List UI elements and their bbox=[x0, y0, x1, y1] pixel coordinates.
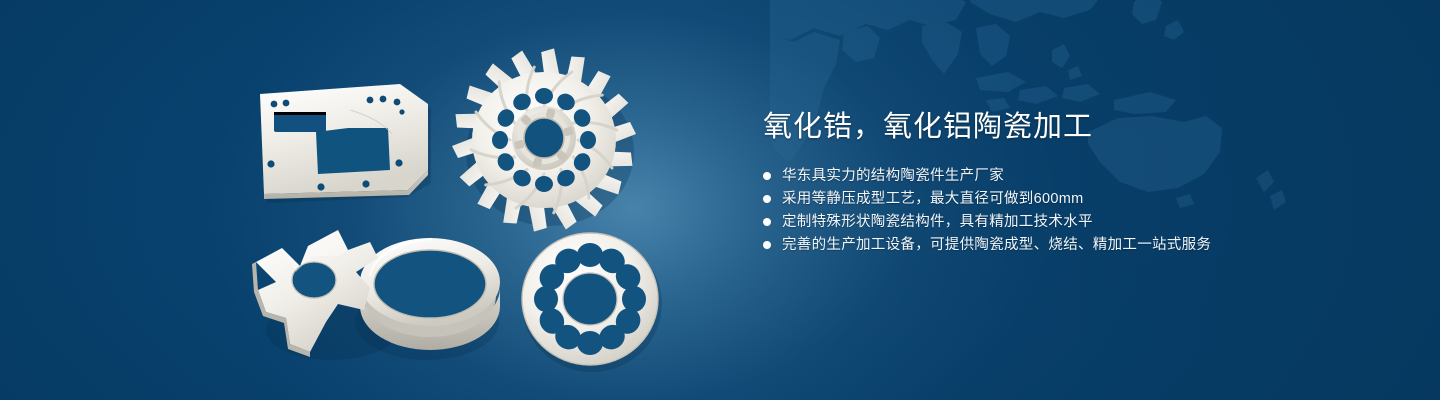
bullet-dot-icon bbox=[763, 218, 771, 226]
feature-list: 华东具实力的结构陶瓷件生产厂家 采用等静压成型工艺，最大直径可做到600mm 定… bbox=[763, 168, 1383, 253]
ceramic-plate-part bbox=[252, 82, 432, 202]
list-item: 完善的生产加工设备，可提供陶瓷成型、烧结、精加工一站式服务 bbox=[763, 237, 1383, 253]
bullet-dot-icon bbox=[763, 241, 771, 249]
ceramic-impeller-part bbox=[452, 48, 642, 230]
feature-text: 华东具实力的结构陶瓷件生产厂家 bbox=[782, 168, 1004, 184]
ceramic-parts-photo bbox=[0, 0, 720, 400]
list-item: 定制特殊形状陶瓷结构件，具有精加工技术水平 bbox=[763, 214, 1383, 230]
list-item: 采用等静压成型工艺，最大直径可做到600mm bbox=[763, 191, 1383, 207]
banner-copy: 氧化锆，氧化铝陶瓷加工 华东具实力的结构陶瓷件生产厂家 采用等静压成型工艺，最大… bbox=[763, 108, 1383, 260]
feature-text: 定制特殊形状陶瓷结构件，具有精加工技术水平 bbox=[782, 214, 1093, 230]
promo-banner: 氧化锆，氧化铝陶瓷加工 华东具实力的结构陶瓷件生产厂家 采用等静压成型工艺，最大… bbox=[0, 0, 1440, 400]
bullet-dot-icon bbox=[763, 172, 771, 180]
ceramic-cross-and-rings-part bbox=[252, 226, 512, 366]
list-item: 华东具实力的结构陶瓷件生产厂家 bbox=[763, 168, 1383, 184]
feature-text: 采用等静压成型工艺，最大直径可做到600mm bbox=[782, 191, 1083, 207]
feature-text: 完善的生产加工设备，可提供陶瓷成型、烧结、精加工一站式服务 bbox=[782, 237, 1211, 253]
bullet-dot-icon bbox=[763, 195, 771, 203]
page-title: 氧化锆，氧化铝陶瓷加工 bbox=[763, 108, 1383, 146]
ceramic-holed-disc-part bbox=[516, 228, 666, 370]
